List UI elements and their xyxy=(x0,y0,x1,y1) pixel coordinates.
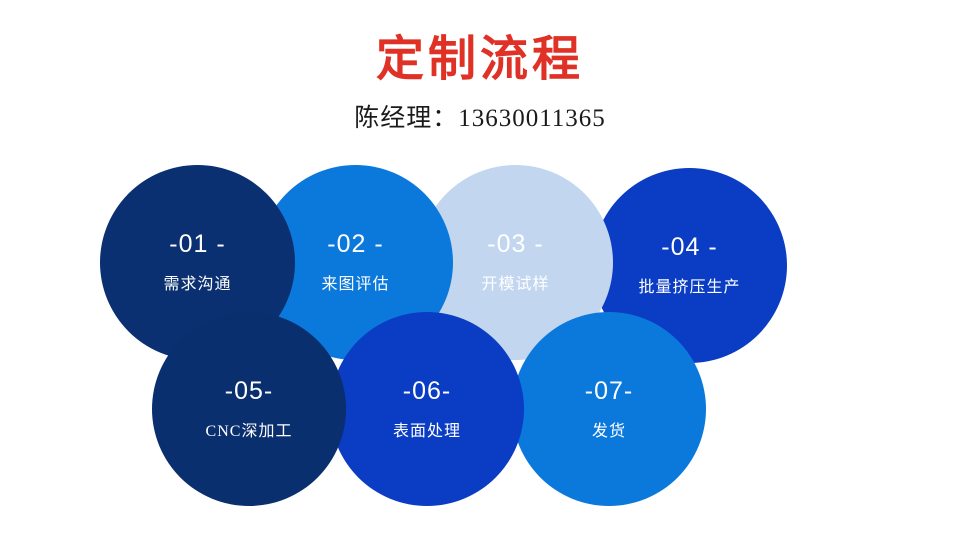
flow-step-label: 批量挤压生产 xyxy=(638,280,740,296)
flow-step-number: -04 - xyxy=(661,235,717,260)
flow-step-label: 开模试样 xyxy=(481,277,549,293)
flow-step-label: 来图评估 xyxy=(321,277,389,293)
process-flow-diagram: -01 -需求沟通-02 -来图评估-03 -开模试样-04 -批量挤压生产-0… xyxy=(0,0,960,560)
flow-step-number: -07- xyxy=(585,379,633,404)
flow-step-circle-5[interactable]: -05-CNC深加工 xyxy=(152,312,346,506)
flow-step-label: CNC深加工 xyxy=(206,424,293,440)
flow-step-number: -03 - xyxy=(487,232,543,257)
flow-step-label: 发货 xyxy=(592,424,626,440)
flow-step-label: 表面处理 xyxy=(393,424,461,440)
flow-step-circle-6[interactable]: -06-表面处理 xyxy=(330,312,524,506)
flow-step-number: -06- xyxy=(403,379,451,404)
flow-step-circle-7[interactable]: -07-发货 xyxy=(512,312,706,506)
flow-step-label: 需求沟通 xyxy=(163,277,231,293)
flow-step-number: -05- xyxy=(225,379,273,404)
flow-step-number: -02 - xyxy=(327,232,383,257)
flow-step-number: -01 - xyxy=(169,232,225,257)
slide-canvas: 定制流程 陈经理：13630011365 -01 -需求沟通-02 -来图评估-… xyxy=(0,0,960,560)
